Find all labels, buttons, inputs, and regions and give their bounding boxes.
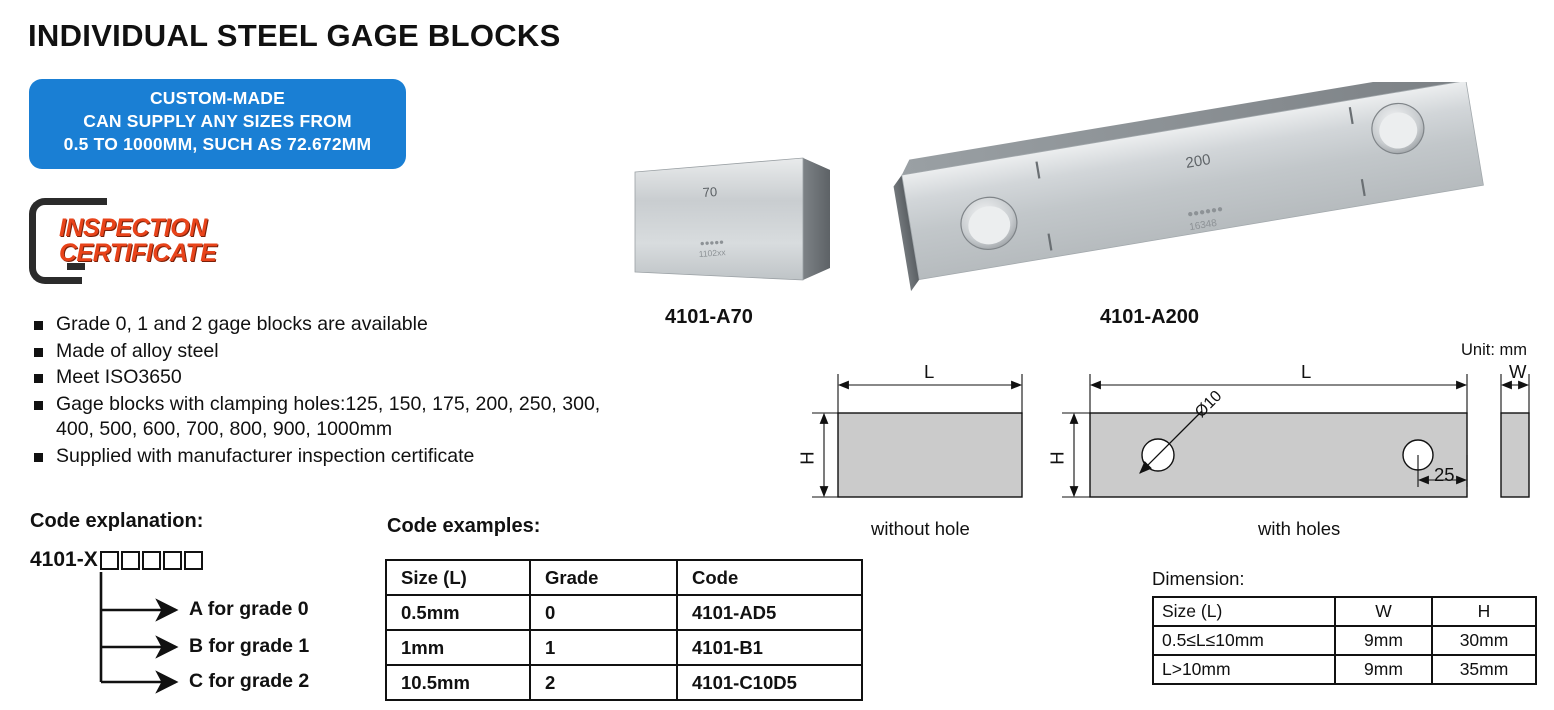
code-box-1	[100, 551, 119, 570]
badge-line-3: 0.5 TO 1000MM, SUCH AS 72.672MM	[29, 133, 406, 156]
table-header-row: Size (L) W H	[1153, 597, 1536, 626]
bracket-top-bar	[67, 198, 107, 205]
drawing-caption-without-hole: without hole	[871, 518, 970, 540]
code-examples-title: Code examples:	[387, 515, 540, 538]
cell-grade: 0	[530, 595, 677, 630]
badge-line-2: CAN SUPPLY ANY SIZES FROM	[29, 110, 406, 133]
unit-label: Unit: mm	[1461, 341, 1527, 360]
grade-label-c: C for grade 2	[189, 670, 309, 693]
photo-caption-a200: 4101-A200	[1100, 306, 1199, 329]
svg-text:●●●●●: ●●●●●	[700, 237, 725, 248]
col-header-h: H	[1432, 597, 1536, 626]
col-header-grade: Grade	[530, 560, 677, 595]
cell-size: 0.5≤L≤10mm	[1153, 626, 1335, 655]
table-row: 10.5mm 2 4101-C10D5	[386, 665, 862, 700]
table-row: 0.5mm 0 4101-AD5	[386, 595, 862, 630]
dimension-table-title: Dimension:	[1152, 568, 1245, 590]
code-explanation-title: Code explanation:	[30, 510, 203, 533]
list-item: Meet ISO3650	[30, 365, 640, 391]
dim-label-L-with-holes: L	[1301, 361, 1311, 383]
dimension-table: Size (L) W H 0.5≤L≤10mm 9mm 30mm L>10mm …	[1152, 596, 1537, 685]
code-pattern-prefix: 4101-X	[30, 548, 98, 572]
cell-w: 9mm	[1335, 655, 1432, 684]
dim-label-L-without-hole: L	[924, 361, 934, 383]
grade-label-a: A for grade 0	[189, 598, 309, 621]
feature-text: Supplied with manufacturer inspection ce…	[56, 445, 474, 467]
cell-h: 30mm	[1432, 626, 1536, 655]
table-row: L>10mm 9mm 35mm	[1153, 655, 1536, 684]
dim-label-W-side-view: W	[1509, 361, 1526, 383]
cell-size: 0.5mm	[386, 595, 530, 630]
code-explanation-arrows: A for grade 0 B for grade 1 C for grade …	[28, 572, 368, 697]
col-header-size: Size (L)	[1153, 597, 1335, 626]
cell-h: 35mm	[1432, 655, 1536, 684]
cell-size: 1mm	[386, 630, 530, 665]
col-header-size: Size (L)	[386, 560, 530, 595]
code-box-3	[142, 551, 161, 570]
cell-w: 9mm	[1335, 626, 1432, 655]
page-title: INDIVIDUAL STEEL GAGE BLOCKS	[28, 18, 561, 54]
cell-grade: 2	[530, 665, 677, 700]
code-pattern: 4101-X	[30, 548, 203, 572]
product-photo-4101-a70: 70 ●●●●● 1102xx	[625, 140, 845, 290]
badge-line-1: CUSTOM-MADE	[29, 87, 406, 110]
code-box-4	[163, 551, 182, 570]
feature-text: Grade 0, 1 and 2 gage blocks are availab…	[56, 313, 428, 335]
cell-grade: 1	[530, 630, 677, 665]
photo-caption-a70: 4101-A70	[665, 306, 753, 329]
cell-code: 4101-AD5	[677, 595, 862, 630]
table-row: 1mm 1 4101-B1	[386, 630, 862, 665]
dim-label-hole-diameter: Ø10	[1192, 388, 1226, 422]
feature-text: Made of alloy steel	[56, 340, 219, 362]
inspection-certificate-logo: INSPECTION CERTIFICATE	[27, 196, 257, 278]
svg-text:1102xx: 1102xx	[698, 247, 726, 259]
feature-list: Grade 0, 1 and 2 gage blocks are availab…	[30, 312, 640, 470]
col-header-w: W	[1335, 597, 1432, 626]
logo-line-1: INSPECTION	[59, 214, 207, 242]
dim-label-H-without-hole: H	[797, 451, 819, 464]
dim-label-H-with-holes: H	[1047, 451, 1069, 464]
feature-text: Gage blocks with clamping holes:125, 150…	[56, 393, 600, 441]
drawing-caption-with-holes: with holes	[1258, 518, 1340, 540]
table-header-row: Size (L) Grade Code	[386, 560, 862, 595]
inspection-logo-text: INSPECTION CERTIFICATE	[59, 216, 216, 266]
feature-text: Meet ISO3650	[56, 366, 182, 388]
svg-text:70: 70	[702, 184, 717, 200]
logo-line-2: CERTIFICATE	[59, 239, 216, 267]
code-box-5	[184, 551, 203, 570]
cell-code: 4101-B1	[677, 630, 862, 665]
table-row: 0.5≤L≤10mm 9mm 30mm	[1153, 626, 1536, 655]
code-box-2	[121, 551, 140, 570]
custom-made-badge: CUSTOM-MADE CAN SUPPLY ANY SIZES FROM 0.…	[29, 79, 406, 169]
cell-size: 10.5mm	[386, 665, 530, 700]
grade-label-b: B for grade 1	[189, 635, 309, 658]
list-item: Grade 0, 1 and 2 gage blocks are availab…	[30, 312, 640, 338]
product-photo-4101-a200: 200 ●●●●●● 16348	[890, 82, 1510, 294]
list-item: Supplied with manufacturer inspection ce…	[30, 444, 640, 470]
col-header-code: Code	[677, 560, 862, 595]
dim-label-edge-distance: 25	[1434, 464, 1455, 486]
cell-size: L>10mm	[1153, 655, 1335, 684]
cell-code: 4101-C10D5	[677, 665, 862, 700]
list-item: Gage blocks with clamping holes:125, 150…	[30, 392, 640, 443]
code-examples-table: Size (L) Grade Code 0.5mm 0 4101-AD5 1mm…	[385, 559, 863, 701]
list-item: Made of alloy steel	[30, 339, 640, 365]
